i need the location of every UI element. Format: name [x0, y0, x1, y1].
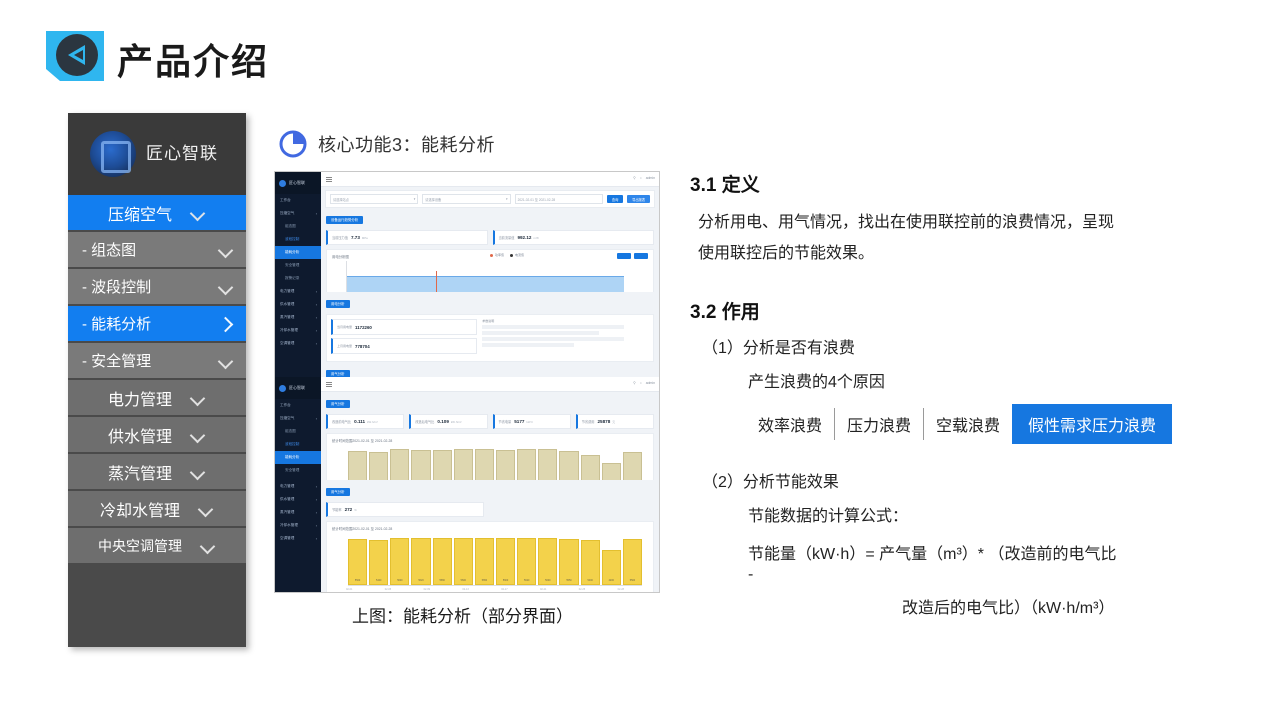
kpi-label: 当前压力值: [332, 235, 348, 240]
app-nav-item[interactable]: 压缩空气›: [275, 412, 321, 425]
chart-legend: 功率值 电流值: [490, 253, 524, 257]
kpi-card: 改造前电气比0.111kW·h/m³: [326, 414, 404, 429]
legend-item: 电流值: [510, 253, 524, 257]
chevron-down-icon: ›: [316, 537, 317, 541]
app-user-label: admin: [646, 176, 655, 180]
query-button[interactable]: 查询: [607, 195, 623, 203]
date-range-value: 2021-02-01 至 2021-02-28: [518, 197, 556, 202]
kpi-row-top: 当前压力值 7.73 MPa 当前流量值 992.12 m³/h: [326, 230, 654, 245]
device-select[interactable]: 请选择设备▾: [422, 194, 510, 204]
kpi-card: 当月用电量 1172260: [331, 319, 477, 335]
chevron-down-icon: [202, 540, 214, 552]
date-range-input[interactable]: 2021-02-01 至 2021-02-28: [515, 194, 603, 204]
app-window-middle: 用电分析 当月用电量 1172260 上月用电量 778704 参数说明: [275, 292, 659, 377]
kpi-unit: m³/h: [534, 236, 540, 240]
kpi-card: 节省费用25878元: [576, 414, 654, 429]
app-nav-item[interactable]: 组态图: [275, 220, 321, 233]
app-topbar: ⚲ ○ admin: [321, 377, 659, 392]
app-nav-label: 电力管理: [280, 484, 294, 489]
sidebar-item-cooling-water-management[interactable]: 冷却水管理: [68, 491, 246, 526]
detail-line: [482, 325, 624, 329]
section-3-1-line-2: 使用联控后的节能效果。: [698, 238, 1250, 269]
app-nav-label: 安全管理: [285, 263, 299, 268]
chevron-down-icon: [192, 429, 204, 441]
section-heading: 核心功能3：能耗分析: [318, 131, 495, 157]
sidebar-item-label: 压缩空气: [108, 201, 172, 225]
kpi-card: 改造后电气比0.109kW·h/m³: [409, 414, 487, 429]
sidebar-item-compressed-air[interactable]: 压缩空气: [68, 195, 246, 230]
app-nav-label: 压缩空气: [280, 416, 294, 421]
sidebar-item-label: 蒸汽管理: [108, 460, 172, 484]
right-content-column: 3.1 定义 分析用电、用气情况，找出在使用联控前的浪费情况，呈现 使用联控后的…: [690, 170, 1250, 618]
app-content-middle: 用电分析 当月用电量 1172260 上月用电量 778704 参数说明: [321, 292, 659, 377]
app-nav-label: 能耗分析: [285, 455, 299, 460]
app-nav-label: 安全管理: [285, 468, 299, 473]
app-user-label: admin: [646, 381, 655, 385]
chip-pressure-waste[interactable]: 压力浪费: [835, 404, 923, 444]
chevron-down-icon: ›: [316, 498, 317, 502]
chevron-down-icon: ›: [316, 212, 317, 216]
chart-range-label: 统计时间范围2021-02-01 至 2021-02-28: [332, 526, 648, 531]
chevron-down-icon: ›: [316, 417, 317, 421]
app-nav-label: 波段控制: [285, 237, 299, 242]
detail-title-label: 参数说明: [482, 319, 494, 323]
page-title: 产品介绍: [117, 33, 269, 85]
section-3-1-line-1: 分析用电、用气情况，找出在使用联控前的浪费情况，呈现: [698, 207, 1250, 238]
formula-line-1: 节能量（kW·h）= 产气量（m³）* （改造前的电气比: [748, 540, 1250, 564]
power-detail-column: 参数说明: [482, 319, 649, 357]
app-nav-label: 波段控制: [285, 442, 299, 447]
sidebar-panel: 匠心智联 压缩空气 - 组态图 - 波段控制 - 能耗分析 - 安全管理 电力管…: [68, 113, 246, 647]
app-nav-item[interactable]: 供水管理›: [275, 493, 321, 506]
pie-chart-icon: [277, 128, 309, 160]
section-3-1-title: 3.1 定义: [690, 170, 1250, 197]
bar-chart-gold: 5500 5400 5600 5620 5580 5600 5650 5600 …: [348, 533, 642, 586]
kpi-value: 992.12: [517, 235, 531, 240]
play-left-triangle-inner-icon: [74, 50, 83, 60]
chevron-down-icon: [192, 466, 204, 478]
app-brand-label: 匠心智联: [289, 385, 305, 391]
chevron-down-icon: [192, 392, 204, 404]
hamburger-icon[interactable]: [326, 177, 332, 181]
sidebar-item-label: 中央空调管理: [98, 536, 182, 556]
app-content-bars-gold: 用气分析 节能率 272 % 统计时间范围2021-02-01 至 2021-0…: [321, 480, 659, 592]
app-nav-label: 冷却水管理: [280, 523, 298, 528]
section-3-2-title: 3.2 作用: [690, 297, 1250, 324]
chart-range-label: 统计时间范围2021-02-01 至 2021-02-28: [332, 438, 648, 443]
sidebar-item-configuration-diagram[interactable]: - 组态图: [68, 232, 246, 267]
site-select[interactable]: 请选择站点▾: [330, 194, 418, 204]
detail-line: [482, 331, 599, 335]
bullet-2: （2）分析节能效果: [702, 468, 1250, 492]
kpi-value: 1172260: [355, 325, 372, 330]
app-nav-item-selected[interactable]: 能耗分析: [275, 451, 321, 464]
chevron-down-icon: [220, 281, 232, 293]
chip-efficiency-waste[interactable]: 效率浪费: [746, 404, 834, 444]
bullet-2-sub: 节能数据的计算公式：: [748, 502, 1250, 526]
app-nav-label: 空调管理: [280, 536, 294, 541]
kpi-label: 节省电量: [499, 419, 512, 424]
search-icon[interactable]: ⚲: [633, 176, 635, 180]
kpi-card: 上月用电量 778704: [331, 338, 477, 354]
sidebar-item-label: - 组态图: [82, 239, 136, 260]
kpi-unit: kW·h/m³: [451, 420, 462, 424]
kpi-unit: 元: [612, 420, 615, 424]
search-icon[interactable]: ⚲: [633, 381, 635, 385]
app-brand-label: 匠心智联: [289, 180, 305, 186]
kpi-label: 当前流量值: [499, 235, 515, 240]
kpi-value: 5177: [514, 419, 524, 424]
kpi-card: 节省电量5177kW·h: [493, 414, 571, 429]
kpi-value: 25878: [598, 419, 611, 424]
app-topbar: ⚲ ○ admin: [321, 172, 659, 187]
app-nav-item[interactable]: 报警记录: [275, 272, 321, 285]
app-nav-label: 供水管理: [280, 497, 294, 502]
kpi-value: 778704: [355, 344, 370, 349]
bullet-1: （1）分析是否有浪费: [702, 334, 1250, 358]
figure-caption: 上图：能耗分析（部分界面）: [352, 602, 573, 627]
sidebar-item-energy-analysis[interactable]: - 能耗分析: [68, 306, 246, 341]
app-nav-item[interactable]: 波段控制: [275, 438, 321, 451]
formula-line-2: 改造后的电气比）（kW·h/m³）: [902, 594, 1250, 618]
kpi-card: 当前压力值 7.73 MPa: [326, 230, 488, 245]
kpi-label: 当月用电量: [337, 325, 352, 329]
site-select-value: 请选择站点: [333, 197, 349, 202]
export-button[interactable]: 导出报表: [627, 195, 650, 203]
slide-header: 产品介绍: [0, 0, 1280, 100]
app-nav-item[interactable]: 冷却水管理›: [275, 519, 321, 532]
kpi-label: 节省费用: [582, 419, 595, 424]
gas-bar-chart-card: 统计时间范围2021-02-01 至 2021-02-28 5200 5100 …: [326, 433, 654, 487]
sidebar-item-hvac-management[interactable]: 中央空调管理: [68, 528, 246, 563]
kpi-value: 7.73: [351, 235, 360, 240]
app-nav-label: 蒸汽管理: [280, 510, 294, 515]
sidebar-item-power-management[interactable]: 电力管理: [68, 380, 246, 415]
month-view-button[interactable]: [634, 253, 648, 259]
sidebar-item-label: 电力管理: [108, 386, 172, 410]
app-nav-item[interactable]: 空调管理›: [275, 532, 321, 545]
legend-label: 功率值: [495, 253, 504, 257]
section-tag-gas-3: 用气分析: [326, 488, 350, 496]
sidebar-item-water-supply-management[interactable]: 供水管理: [68, 417, 246, 452]
app-nav-label: 能耗分析: [285, 250, 299, 255]
chart-view-buttons: [617, 253, 648, 259]
chip-false-demand-pressure-waste[interactable]: 假性需求压力浪费: [1012, 404, 1172, 444]
app-nav-item[interactable]: 蒸汽管理›: [275, 506, 321, 519]
legend-item: 功率值: [490, 253, 504, 257]
hamburger-icon[interactable]: [326, 382, 332, 386]
sidebar-item-band-control[interactable]: - 波段控制: [68, 269, 246, 304]
app-nav-label: 组态图: [285, 224, 296, 229]
kpi-label: 上月用电量: [337, 344, 352, 348]
app-logo-icon: [279, 385, 286, 392]
section-tag-gas: 用气分析: [326, 370, 350, 378]
chevron-down-icon: ›: [316, 485, 317, 489]
section-tag-gas-2: 用气分析: [326, 400, 350, 408]
app-window-bars-gold: 电力管理› 供水管理› 蒸汽管理› 冷却水管理› 空调管理› 用气分析 节能率 …: [275, 480, 659, 592]
app-nav-item[interactable]: 安全管理: [275, 464, 321, 477]
app-nav-item-selected[interactable]: 能耗分析: [275, 246, 321, 259]
chevron-down-icon: [192, 207, 204, 219]
app-brand: 匠心智联: [275, 172, 321, 194]
chevron-down-icon: [220, 355, 232, 367]
chevron-down-icon: ›: [316, 511, 317, 515]
app-nav-item[interactable]: 工作台: [275, 194, 321, 207]
app-window-bars-tan: 匠心智联 工作台 压缩空气› 组态图 波段控制 能耗分析 安全管理 报警记录 电…: [275, 377, 659, 487]
kpi-value: 0.111: [354, 419, 365, 424]
section-tag-power: 用电分析: [326, 300, 350, 308]
app-nav-label: 工作台: [280, 198, 291, 203]
x-axis-labels: 02-0102-0502-0902-1302-1702-2102-2502-28: [346, 588, 624, 591]
chevron-down-icon: ▾: [506, 197, 508, 201]
app-filter-bar: 请选择站点▾ 请选择设备▾ 2021-02-01 至 2021-02-28 查询…: [325, 190, 655, 208]
kpi-unit: kW·h: [526, 420, 533, 424]
sidebar-item-label: 供水管理: [108, 423, 172, 447]
power-detail-card: 当月用电量 1172260 上月用电量 778704 参数说明: [326, 314, 654, 362]
sidebar-item-label: 冷却水管理: [100, 497, 180, 521]
saving-bar-chart-card: 统计时间范围2021-02-01 至 2021-02-28 5500 5400 …: [326, 521, 654, 592]
kpi-unit: kW·h/m³: [367, 420, 378, 424]
app-nav-label: 压缩空气: [280, 211, 294, 216]
kpi-row-ratio-2: 改造前电气比0.111kW·h/m³ 改造后电气比0.109kW·h/m³ 节省…: [326, 414, 654, 429]
app-nav-label: 工作台: [280, 403, 291, 408]
kpi-unit: %: [354, 508, 357, 512]
sidebar-item-label: - 能耗分析: [82, 313, 151, 334]
app-nav-label: 报警记录: [285, 276, 299, 281]
kpi-card: 节能率 272 %: [326, 502, 484, 517]
chevron-down-icon: [200, 503, 212, 515]
sidebar-item-label: - 波段控制: [82, 276, 151, 297]
chevron-down-icon: ▾: [414, 197, 416, 201]
detail-line: [482, 343, 574, 347]
formula-dash: -: [748, 566, 1250, 584]
sidebar-brand-label: 匠心智联: [146, 139, 218, 164]
app-nav-label: 组态图: [285, 429, 296, 434]
kpi-value: 272: [345, 507, 353, 512]
kpi-unit: MPa: [362, 236, 368, 240]
detail-line: [482, 337, 624, 341]
company-emblem-icon: [90, 131, 136, 177]
day-view-button[interactable]: [617, 253, 631, 259]
chevron-down-icon: ›: [316, 524, 317, 528]
power-kpi-column: 当月用电量 1172260 上月用电量 778704: [331, 319, 477, 357]
detail-title: 参数说明: [482, 319, 649, 323]
kpi-card: 当前流量值 992.12 m³/h: [493, 230, 655, 245]
kpi-label: 改造后电气比: [415, 419, 434, 424]
kpi-value: 0.109: [437, 419, 449, 424]
app-logo-icon: [279, 180, 286, 187]
app-nav-item[interactable]: 波段控制: [275, 233, 321, 246]
app-topbar-right: ⚲ ○ admin: [633, 176, 655, 180]
device-select-value: 请选择设备: [425, 197, 441, 202]
app-nav-item[interactable]: 压缩空气›: [275, 207, 321, 220]
app-brand: 匠心智联: [275, 377, 321, 399]
kpi-row-single: 节能率 272 %: [326, 502, 654, 517]
chevron-down-icon: [220, 244, 232, 256]
sidebar-brand: 匠心智联: [68, 113, 246, 195]
app-nav-item[interactable]: 安全管理: [275, 259, 321, 272]
chip-idle-waste[interactable]: 空载浪费: [924, 404, 1012, 444]
legend-label: 电流值: [515, 253, 524, 257]
embedded-app-screenshot: 匠心智联 工作台 压缩空气› 组态图 波段控制 能耗分析 安全管理 报警记录 电…: [274, 171, 660, 593]
app-sidebar-2: 匠心智联 工作台 压缩空气› 组态图 波段控制 能耗分析 安全管理 报警记录 电…: [275, 377, 321, 487]
waste-cause-chip-group: 效率浪费 压力浪费 空载浪费 假性需求压力浪费: [746, 404, 1250, 444]
user-avatar-icon[interactable]: ○: [640, 381, 642, 385]
kpi-label: 改造前电气比: [332, 419, 351, 424]
app-sidebar-3: 电力管理› 供水管理› 蒸汽管理› 冷却水管理› 空调管理›: [275, 480, 321, 592]
sidebar-item-label: - 安全管理: [82, 350, 151, 371]
app-topbar-right: ⚲ ○ admin: [633, 381, 655, 385]
app-nav-item[interactable]: 电力管理›: [275, 480, 321, 493]
app-nav-item[interactable]: 工作台: [275, 399, 321, 412]
app-nav-item[interactable]: 组态图: [275, 425, 321, 438]
user-avatar-icon[interactable]: ○: [640, 176, 642, 180]
kpi-label: 节能率: [332, 507, 342, 512]
chevron-right-icon: [220, 318, 232, 330]
sidebar-item-steam-management[interactable]: 蒸汽管理: [68, 454, 246, 489]
bullet-1-sub: 产生浪费的4个原因: [748, 368, 1250, 392]
sidebar-item-safety-management[interactable]: - 安全管理: [68, 343, 246, 378]
section-tag-trend: 设备运行趋势分析: [326, 216, 363, 224]
app-content-bars-tan: ⚲ ○ admin 用气分析 改造前电气比0.111kW·h/m³ 改造后电气比…: [321, 377, 659, 487]
